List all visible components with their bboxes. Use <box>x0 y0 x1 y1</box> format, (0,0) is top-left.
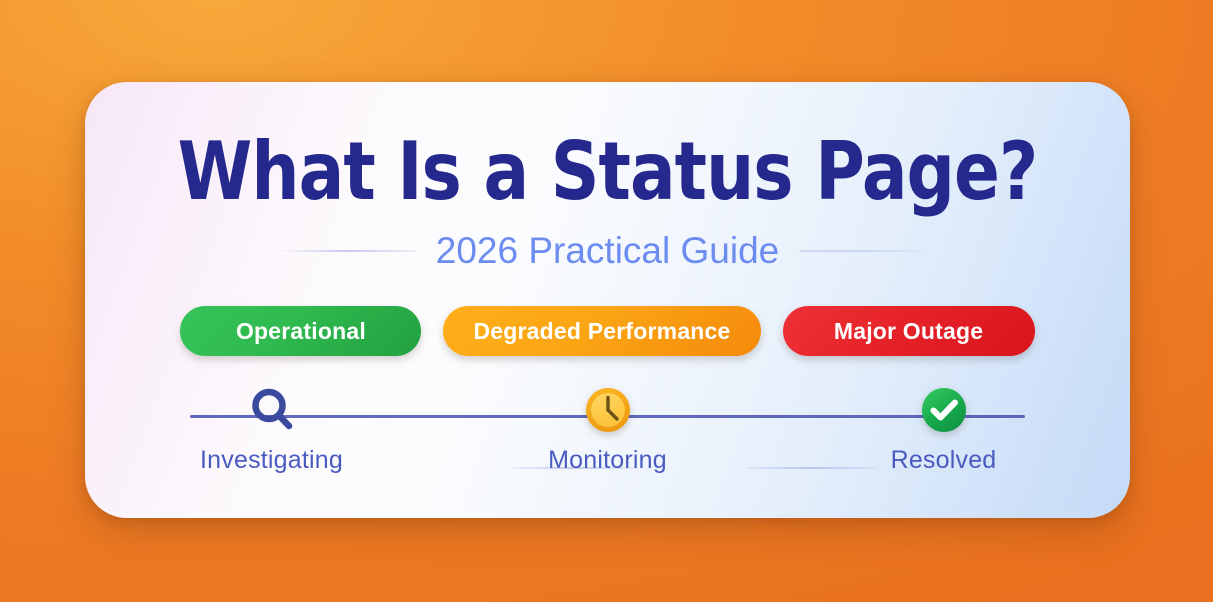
page-title: What Is a Status Page? <box>116 132 1098 212</box>
incident-timeline: Investigating <box>85 382 1130 482</box>
status-pill-operational[interactable]: Operational <box>180 306 421 356</box>
timeline-step-label: Monitoring <box>548 446 667 475</box>
status-page-card: What Is a Status Page? 2026 Practical Gu… <box>85 82 1130 518</box>
subtitle-rule-right <box>799 250 937 252</box>
page-subtitle: 2026 Practical Guide <box>436 230 779 272</box>
status-pill-group: Operational Degraded Performance Major O… <box>85 306 1130 356</box>
timeline-step-monitoring[interactable]: Monitoring <box>548 382 668 475</box>
subtitle-rule-left <box>278 250 416 252</box>
status-pill-degraded-performance[interactable]: Degraded Performance <box>443 306 760 356</box>
clock-icon <box>580 382 636 438</box>
timeline-step-investigating[interactable]: Investigating <box>212 382 332 475</box>
status-pill-major-outage[interactable]: Major Outage <box>783 306 1035 356</box>
timeline-step-label: Resolved <box>891 446 997 475</box>
timeline-step-label: Investigating <box>200 446 343 475</box>
subtitle-row: 2026 Practical Guide <box>85 230 1130 272</box>
check-circle-icon <box>916 382 972 438</box>
timeline-step-resolved[interactable]: Resolved <box>884 382 1004 475</box>
magnifier-icon <box>244 382 300 438</box>
